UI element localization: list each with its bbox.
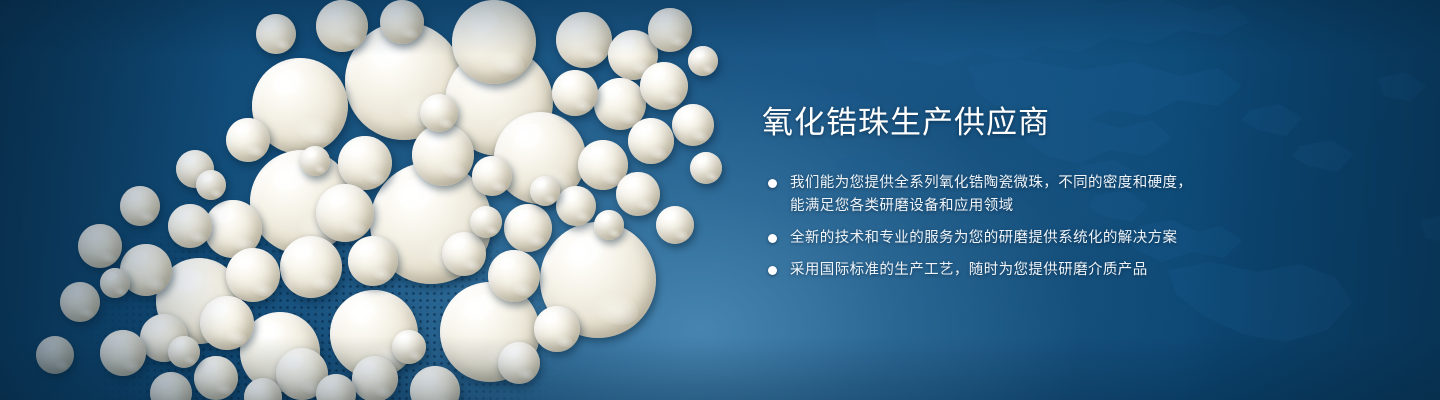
- list-item: 我们能为您提供全系列氧化锆陶瓷微珠，不同的密度和硬度， 能满足您各类研磨设备和应…: [762, 172, 1382, 218]
- list-item-label: 全新的技术和专业的服务为您的研磨提供系统化的解决方案: [790, 227, 1382, 250]
- bullet-dot-icon: [768, 179, 777, 188]
- list-item: 全新的技术和专业的服务为您的研磨提供系统化的解决方案: [762, 227, 1382, 250]
- list-item: 采用国际标准的生产工艺，随时为您提供研磨介质产品: [762, 259, 1382, 282]
- hero-banner: 氧化锆珠生产供应商 我们能为您提供全系列氧化锆陶瓷微珠，不同的密度和硬度， 能满…: [0, 0, 1440, 400]
- feature-list: 我们能为您提供全系列氧化锆陶瓷微珠，不同的密度和硬度， 能满足您各类研磨设备和应…: [762, 172, 1382, 282]
- list-item-label: 采用国际标准的生产工艺，随时为您提供研磨介质产品: [790, 259, 1382, 282]
- page-title: 氧化锆珠生产供应商: [762, 104, 1382, 142]
- list-item-label: 我们能为您提供全系列氧化锆陶瓷微珠，不同的密度和硬度， 能满足您各类研磨设备和应…: [790, 172, 1382, 218]
- bullet-dot-icon: [768, 266, 777, 275]
- bullet-dot-icon: [768, 234, 777, 243]
- banner-content: 氧化锆珠生产供应商 我们能为您提供全系列氧化锆陶瓷微珠，不同的密度和硬度， 能满…: [762, 104, 1382, 282]
